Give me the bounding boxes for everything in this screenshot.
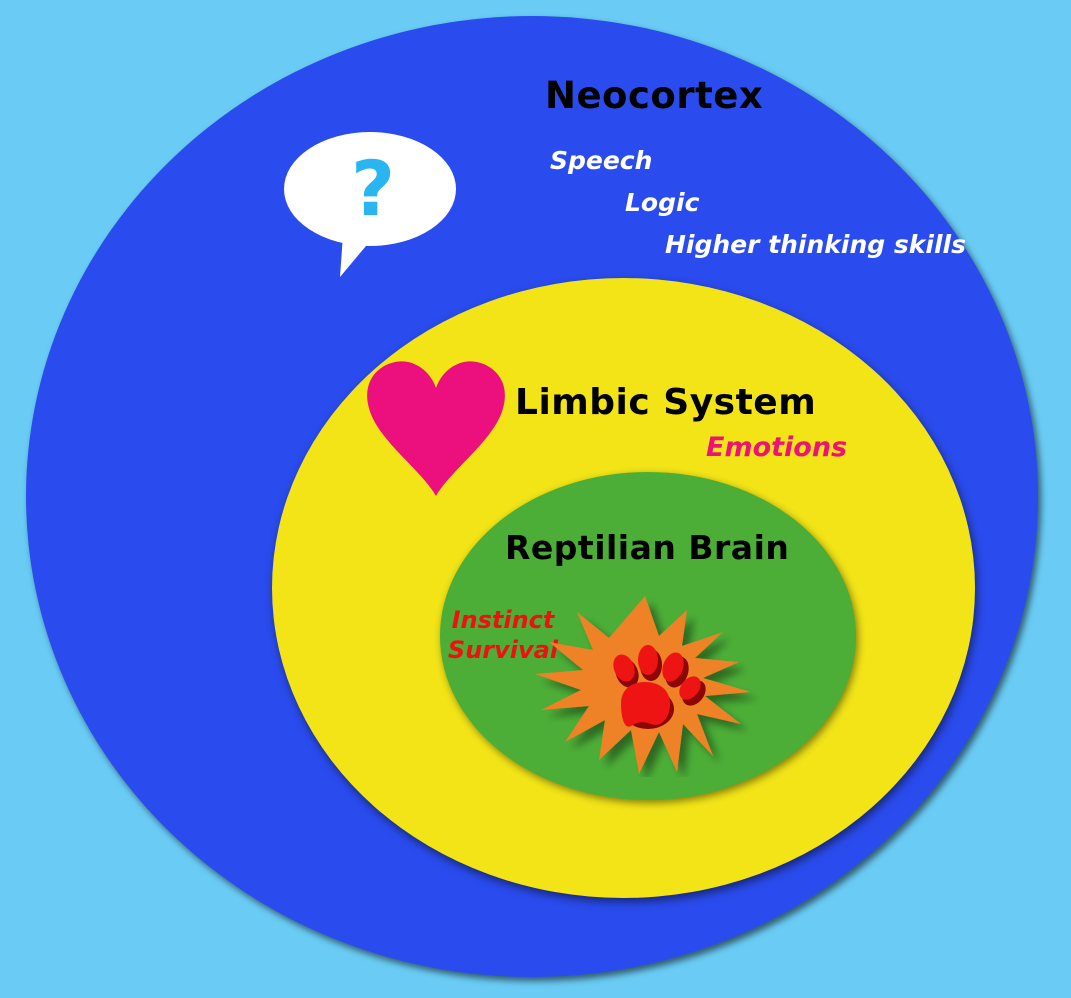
heart-icon [362, 358, 510, 498]
limbic-system-label: Limbic System [515, 382, 816, 423]
reptilian-brain-label: Reptilian Brain [505, 528, 789, 567]
neocortex-function-logic: Logic [550, 190, 962, 215]
limbic-function-emotions: Emotions [706, 432, 847, 463]
neocortex-label: Neocortex [545, 74, 763, 117]
speech-bubble-question-icon: ? [283, 127, 458, 279]
starburst-paw-print-icon [527, 592, 764, 777]
neocortex-function-speech: Speech [550, 148, 962, 173]
diagram-canvas: Neocortex Speech Logic Higher thinking s… [0, 0, 1071, 998]
neocortex-function-higher-thinking: Higher thinking skills [550, 232, 962, 257]
speech-bubble-question-mark: ? [351, 144, 395, 233]
neocortex-function-list: Speech Logic Higher thinking skills [550, 148, 962, 257]
